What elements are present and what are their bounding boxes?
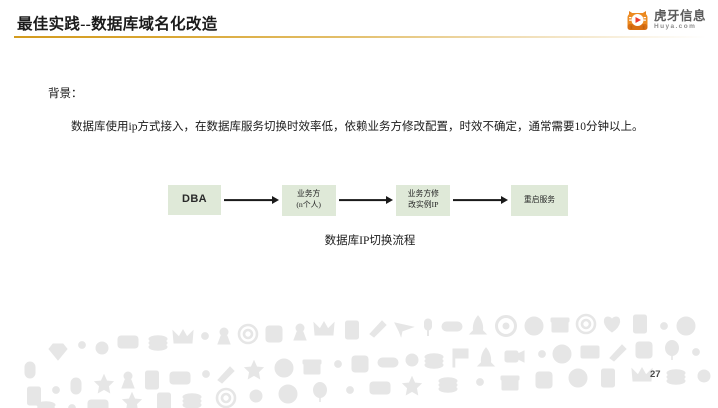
flow-box-label: DBA (182, 192, 207, 207)
slide-canvas: 最佳实践--数据库域名化改造 (0, 0, 718, 408)
gaming-icons-pattern-band (0, 312, 718, 408)
flow-box-business-party: 业务方 (n个人) (282, 185, 336, 216)
page-number: 27 (650, 369, 661, 380)
content-body: 背景： 数据库使用ip方式接入，在数据库服务切换时效率低，依赖业务方修改配置，时… (48, 86, 654, 137)
brand-name-cn: 虎牙信息 (654, 10, 706, 23)
slide-header: 最佳实践--数据库域名化改造 (0, 0, 718, 42)
background-label: 背景： (48, 86, 654, 102)
flow-arrow-2 (339, 195, 394, 205)
flow-box-label: 业务方 (297, 189, 320, 200)
background-paragraph: 数据库使用ip方式接入，在数据库服务切换时效率低，依赖业务方修改配置，时效不确定… (48, 118, 654, 137)
flowchart-caption: 数据库IP切换流程 (0, 232, 718, 248)
flow-box-modify-instance-ip: 业务方修 改实例IP (396, 185, 450, 216)
flow-box-dba: DBA (168, 185, 221, 215)
flowchart: DBA 业务方 (n个人) 业务方修 改实例IP 重启服务 (168, 180, 568, 220)
brand-logo-text: 虎牙信息 Huya.com (654, 10, 706, 31)
flow-box-label: 业务方修 (408, 189, 439, 200)
flow-box-sublabel: 改实例IP (408, 200, 438, 211)
brand-name-en: Huya.com (654, 24, 706, 31)
huya-tiger-logo-icon (626, 9, 649, 32)
flow-box-label: 重启服务 (524, 195, 555, 206)
brand-logo: 虎牙信息 Huya.com (626, 8, 706, 32)
flow-box-sublabel: (n个人) (296, 200, 321, 211)
flow-arrow-3 (453, 195, 508, 205)
page-title: 最佳实践--数据库域名化改造 (17, 12, 218, 34)
flow-arrow-1 (224, 195, 279, 205)
header-divider (14, 36, 706, 38)
flow-box-restart-service: 重启服务 (511, 185, 568, 216)
